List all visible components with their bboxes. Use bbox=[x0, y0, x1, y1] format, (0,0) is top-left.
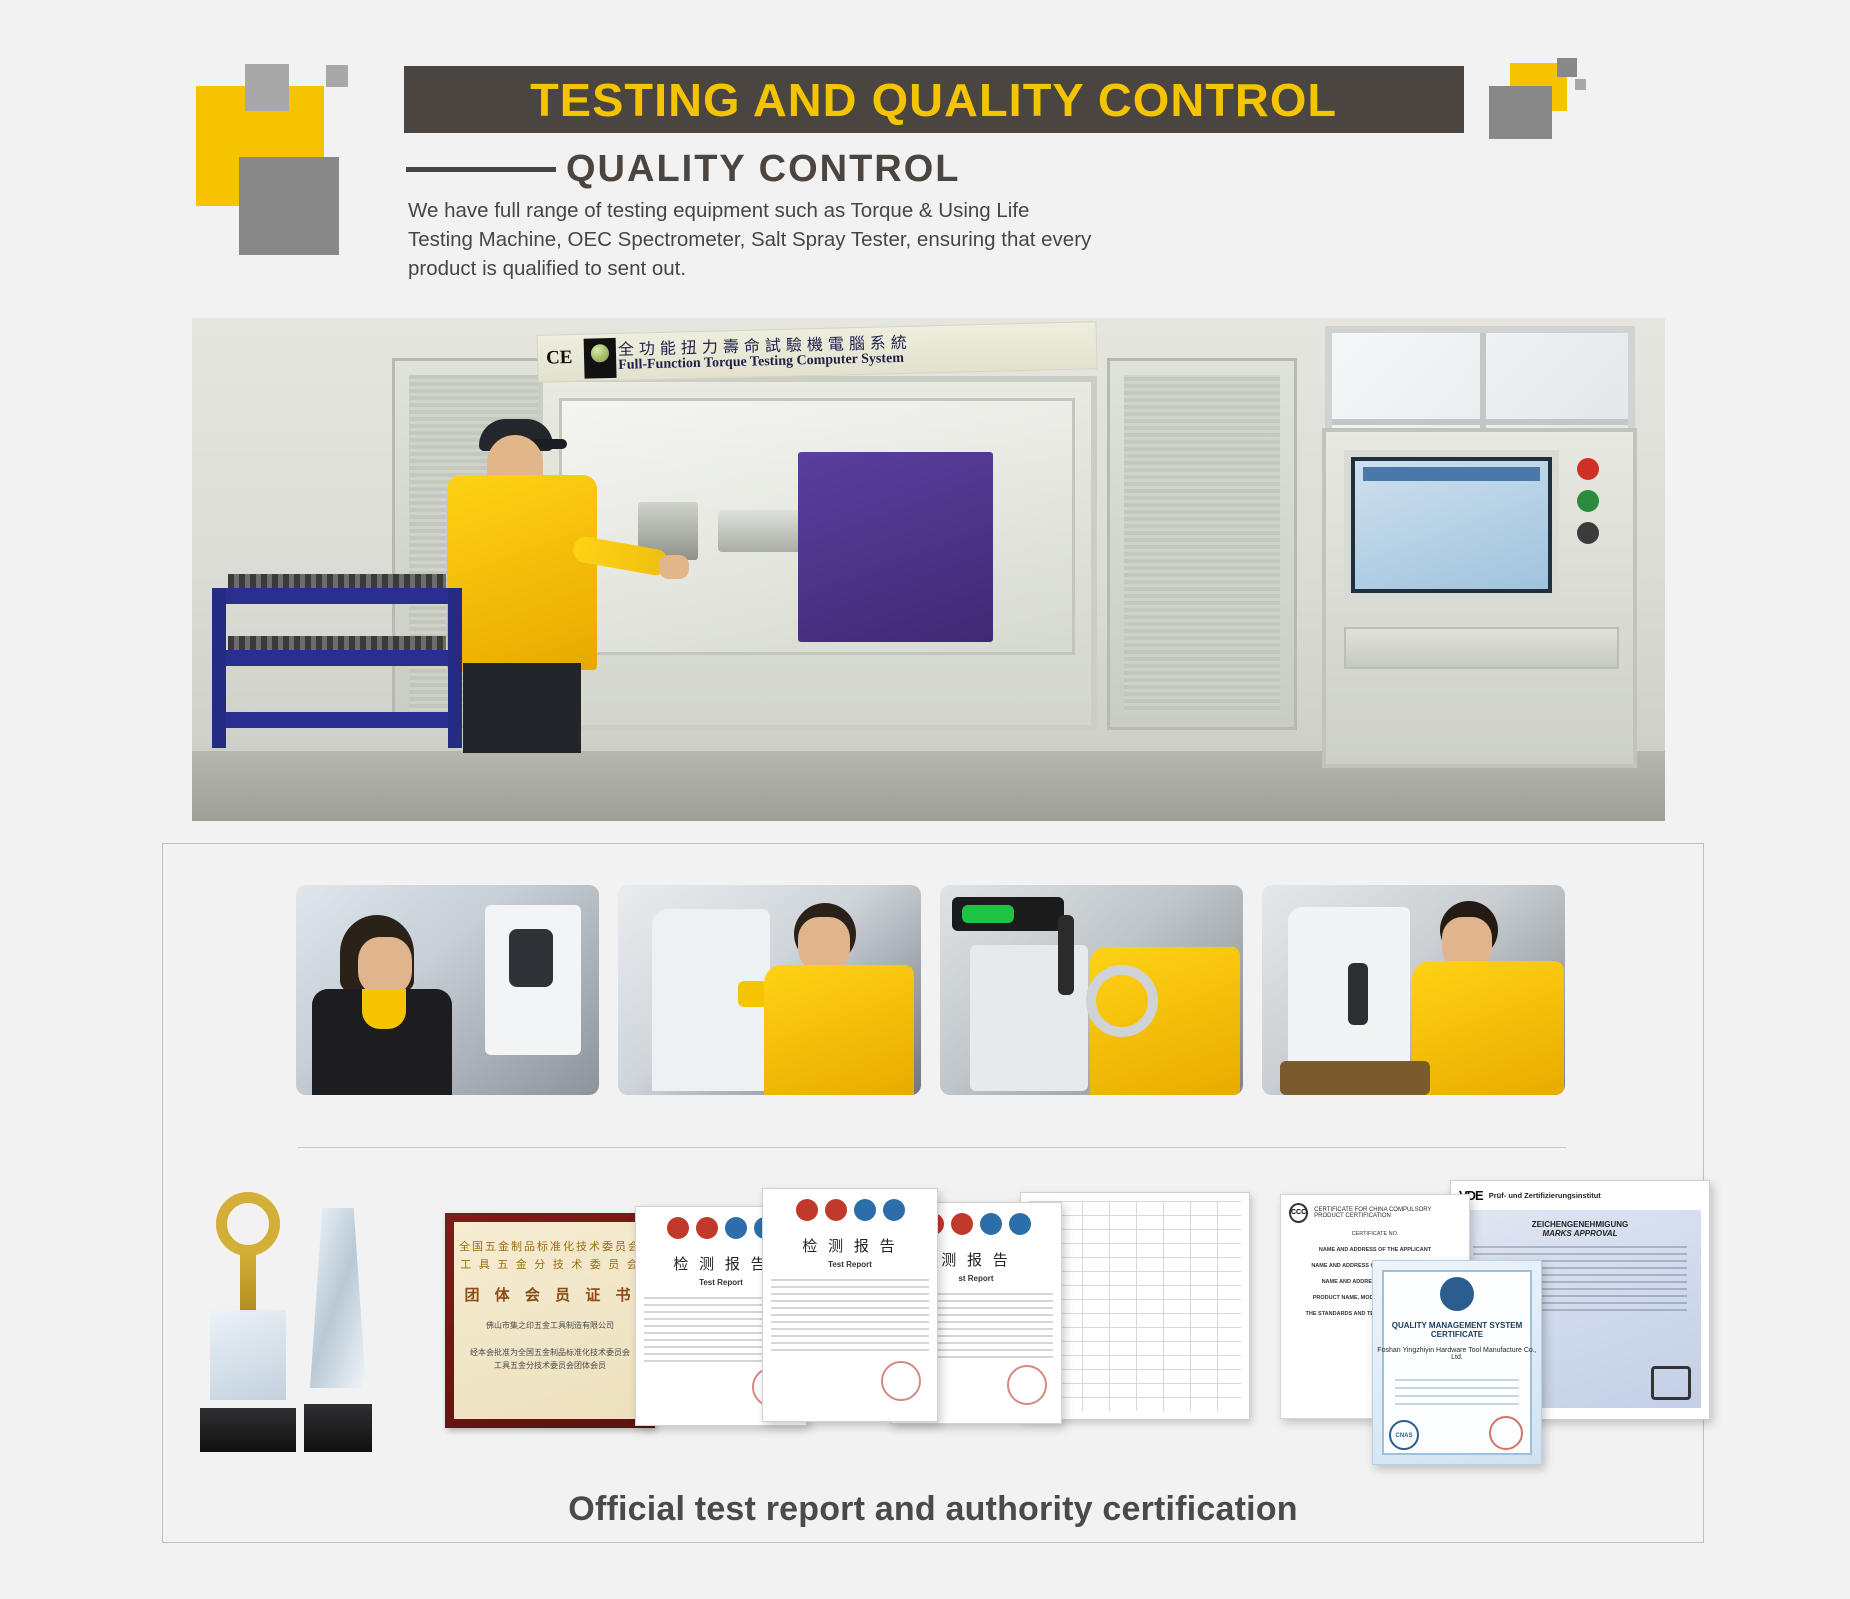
report3-logo-ca-icon bbox=[951, 1213, 973, 1235]
hero-trolley-shelf-2 bbox=[212, 650, 462, 666]
deco-square-gray-large-left bbox=[239, 157, 339, 255]
photo4-person-jacket bbox=[1412, 961, 1564, 1095]
photo2-person-jacket bbox=[764, 965, 914, 1095]
trophy-dragon-base bbox=[200, 1408, 296, 1452]
report1-logo-ma-icon bbox=[667, 1217, 689, 1239]
deco-square-gray-tiny-right bbox=[1575, 79, 1586, 90]
report2-title-en: Test Report bbox=[763, 1260, 937, 1269]
vde-header: VDE Prüf- und Zertifizierungsinstitut bbox=[1451, 1181, 1709, 1203]
trophy-crystal-base bbox=[304, 1404, 372, 1452]
trophy-crystal-obelisk bbox=[310, 1208, 366, 1388]
footer-caption-wrap: Official test report and authority certi… bbox=[162, 1490, 1704, 1529]
qms-seal-icon bbox=[1440, 1277, 1474, 1311]
plaque-line-5: 经本会批准为全国五金制品标准化技术委员会工具五金分技术委员会团体会员 bbox=[467, 1346, 632, 1372]
report3-logo-tiri-icon bbox=[1009, 1213, 1031, 1235]
hero-operator-jacket bbox=[447, 475, 597, 670]
deco-square-gray-tiny-left bbox=[326, 65, 348, 87]
section-description: We have full range of testing equipment … bbox=[408, 196, 1098, 283]
qms-stamp-icon bbox=[1489, 1416, 1523, 1450]
hero-sign-badge-icon bbox=[584, 338, 617, 379]
deco-square-gray-small-left bbox=[245, 64, 289, 111]
hero-trolley-leg-left bbox=[212, 588, 226, 748]
hero-operator-hand bbox=[659, 555, 689, 579]
hero-button-green-icon bbox=[1577, 490, 1599, 512]
trophy-dragon-crystal bbox=[210, 1310, 286, 1400]
photo2-person-face bbox=[798, 917, 850, 971]
hero-console-buttons bbox=[1577, 458, 1619, 554]
photo-gallery bbox=[296, 885, 1566, 1095]
hero-trolley-shelf-3 bbox=[212, 712, 462, 728]
certificate-membership-plaque: 全国五金制品标准化技术委员会 工 具 五 金 分 技 术 委 员 会 团 体 会… bbox=[445, 1213, 655, 1428]
report2-logo-row bbox=[763, 1189, 937, 1221]
plaque-line-1: 全国五金制品标准化技术委员会 bbox=[459, 1238, 641, 1256]
report2-stamp-icon bbox=[881, 1361, 921, 1401]
hero-trolley-leg-right bbox=[448, 588, 462, 748]
test-report-card-2: 检 测 报 告 Test Report bbox=[762, 1188, 938, 1422]
awards-and-certificates-row: 全国五金制品标准化技术委员会 工 具 五 金 分 技 术 委 员 会 团 体 会… bbox=[200, 1180, 1680, 1465]
photo1-person-face bbox=[358, 937, 412, 995]
plaque-inner: 全国五金制品标准化技术委员会 工 具 五 金 分 技 术 委 员 会 团 体 会… bbox=[454, 1222, 646, 1419]
report2-title-cn: 检 测 报 告 bbox=[763, 1235, 937, 1256]
hero-monitor-screen bbox=[1355, 461, 1548, 589]
report2-logo-cnas-icon bbox=[854, 1199, 876, 1221]
photo3-readout-display bbox=[962, 905, 1014, 923]
qms-body-lines bbox=[1395, 1379, 1519, 1411]
hero-operator-pants bbox=[463, 663, 581, 753]
report3-logo-cnas-icon bbox=[980, 1213, 1002, 1235]
report1-logo-cnas-icon bbox=[725, 1217, 747, 1239]
trophy-dragon-stem bbox=[240, 1252, 256, 1312]
gallery-divider bbox=[298, 1147, 1566, 1148]
trophy-dragon-ring-icon bbox=[216, 1192, 280, 1256]
plaque-line-3: 团 体 会 员 证 书 bbox=[464, 1284, 635, 1305]
hero-operator bbox=[447, 413, 597, 743]
deco-square-gray-small-right bbox=[1557, 58, 1577, 77]
photo3-fixture-post bbox=[1058, 915, 1074, 995]
hero-button-black-icon bbox=[1577, 522, 1599, 544]
photo1-person-collar bbox=[362, 989, 406, 1029]
ccc-mark-icon: CCC bbox=[1289, 1203, 1308, 1223]
hero-cabinet-right bbox=[1107, 358, 1297, 730]
award-trophy-crystal bbox=[304, 1208, 372, 1452]
vde-institute-text: Prüf- und Zertifizierungsinstitut bbox=[1489, 1191, 1601, 1200]
banner-title-bar: TESTING AND QUALITY CONTROL bbox=[404, 66, 1464, 133]
plaque-line-2: 工 具 五 金 分 技 术 委 员 会 bbox=[460, 1256, 639, 1274]
photo4-tester-indenter bbox=[1348, 963, 1368, 1025]
ce-mark-icon: CE bbox=[546, 347, 573, 370]
gallery-photo-spectrometer bbox=[618, 885, 921, 1095]
ccc-header-row: CCC CERTIFICATE FOR CHINA COMPULSORY PRO… bbox=[1281, 1195, 1469, 1223]
vde-title-de: ZEICHENGENEHMIGUNG bbox=[1459, 1210, 1701, 1229]
qms-accreditation-icon: CNAS bbox=[1389, 1420, 1419, 1450]
deco-square-gray-large-right bbox=[1489, 86, 1552, 139]
hero-cabinet-right-mesh bbox=[1124, 375, 1280, 713]
photo3-tool-ring bbox=[1086, 965, 1158, 1037]
report2-logo-ca-icon bbox=[825, 1199, 847, 1221]
plaque-line-4: 佛山市集之印五金工具制造有限公司 bbox=[467, 1319, 632, 1332]
report2-logo-ma-icon bbox=[796, 1199, 818, 1221]
hero-monitor bbox=[1344, 450, 1559, 600]
ccc-field-1: CERTIFICATE NO. bbox=[1281, 1231, 1469, 1237]
report3-stamp-icon bbox=[1007, 1365, 1047, 1405]
hero-machine-purple-housing bbox=[798, 452, 993, 642]
section-heading: QUALITY CONTROL bbox=[406, 148, 961, 191]
report2-body-lines bbox=[771, 1279, 929, 1351]
ccc-title-text: CERTIFICATE FOR CHINA COMPULSORY PRODUCT… bbox=[1314, 1207, 1461, 1219]
photo4-bench bbox=[1280, 1061, 1430, 1095]
vde-mark-icon bbox=[1651, 1366, 1691, 1400]
ccc-field-2: NAME AND ADDRESS OF THE APPLICANT bbox=[1281, 1247, 1469, 1253]
report1-logo-ca-icon bbox=[696, 1217, 718, 1239]
footer-caption-text: Official test report and authority certi… bbox=[568, 1490, 1297, 1529]
gallery-photo-microscope bbox=[296, 885, 599, 1095]
banner-title-text: TESTING AND QUALITY CONTROL bbox=[531, 73, 1338, 127]
hero-trolley-shelf-1 bbox=[212, 588, 462, 604]
vde-title-en: MARKS APPROVAL bbox=[1459, 1229, 1701, 1238]
gallery-photo-torque-rig bbox=[940, 885, 1243, 1095]
section-title-text: QUALITY CONTROL bbox=[566, 148, 961, 191]
hero-control-console bbox=[1322, 428, 1637, 768]
qms-company-text: Foshan Yingzhiyin Hardware Tool Manufact… bbox=[1373, 1347, 1541, 1361]
hero-console-drawer bbox=[1344, 627, 1619, 669]
qms-title-text: QUALITY MANAGEMENT SYSTEM CERTIFICATE bbox=[1373, 1321, 1541, 1339]
certificate-qms: QUALITY MANAGEMENT SYSTEM CERTIFICATE Fo… bbox=[1372, 1260, 1542, 1465]
hero-button-red-icon bbox=[1577, 458, 1599, 480]
hero-tool-trolley bbox=[212, 588, 462, 748]
photo1-microscope-head bbox=[509, 929, 553, 987]
page-root: TESTING AND QUALITY CONTROL QUALITY CONT… bbox=[0, 0, 1850, 1599]
hero-photo-torque-testing-machine: CE 全功能扭力壽命試驗機電腦系統 Full-Function Torque T… bbox=[192, 318, 1665, 821]
award-trophy-dragon bbox=[200, 1192, 296, 1452]
gallery-photo-hardness-tester bbox=[1262, 885, 1565, 1095]
heading-rule bbox=[406, 167, 556, 172]
report2-logo-tiri-icon bbox=[883, 1199, 905, 1221]
